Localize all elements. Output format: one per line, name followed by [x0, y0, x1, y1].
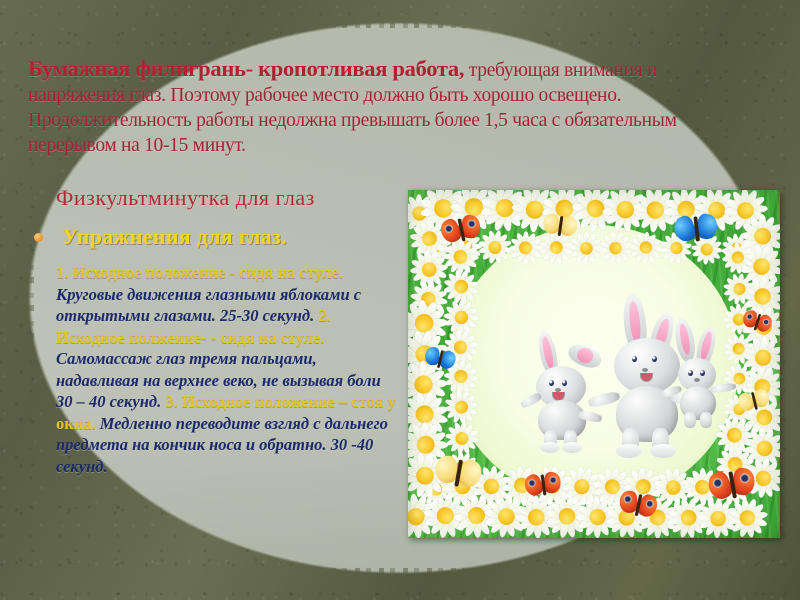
- bullet-row: Упражнения для глаз.: [34, 224, 287, 250]
- butterfly-icon: [673, 209, 719, 248]
- butterfly-icon: [523, 468, 562, 502]
- bunny-nose: [642, 368, 648, 372]
- butterfly-wing: [461, 215, 481, 239]
- exercise-action: Медленно переводите взгляд с дальнего пр…: [56, 414, 388, 476]
- butterfly-icon: [541, 210, 579, 242]
- bunny-eye: [688, 370, 693, 376]
- bunny-foot: [616, 444, 642, 458]
- dot-bullet-icon: [34, 233, 43, 242]
- bunny-foot: [562, 442, 582, 453]
- bunny-leg: [684, 412, 696, 428]
- bunny-meadow-image: [408, 190, 780, 538]
- bunny-leg: [700, 412, 712, 428]
- bunny-foot: [650, 444, 676, 458]
- butterfly-icon: [706, 462, 758, 507]
- slide-canvas: Бумажная филигрань- кропотливая работа, …: [0, 0, 800, 600]
- daisy-core: [454, 310, 468, 324]
- bunny-nose: [694, 378, 700, 382]
- bunny-arm: [710, 382, 737, 394]
- section-heading: Физкультминутка для глаз: [56, 185, 315, 211]
- bunny-left: [532, 330, 608, 446]
- bunny-eye: [549, 380, 554, 386]
- exercise-position: 1. Исходное положение - сидя на стуле.: [56, 263, 343, 282]
- bunny-eye: [652, 356, 657, 362]
- bunny-eye: [632, 356, 637, 362]
- bunny-ear: [672, 317, 697, 363]
- bunny-right: [670, 318, 740, 428]
- intro-lead-text: Бумажная филигрань- кропотливая работа,: [28, 56, 464, 81]
- bunny-eye: [700, 370, 705, 376]
- exercise-action: Круговые движения глазными яблоками с от…: [56, 285, 361, 326]
- bunny-foot: [540, 442, 560, 453]
- bullet-label: Упражнения для глаз.: [62, 224, 287, 250]
- bunny-eye: [562, 380, 567, 386]
- exercise-list: 1. Исходное положение - сидя на стуле. К…: [56, 262, 396, 477]
- intro-paragraph: Бумажная филигрань- кропотливая работа, …: [28, 56, 758, 158]
- daisy-core: [579, 241, 592, 254]
- butterfly-icon: [432, 450, 484, 495]
